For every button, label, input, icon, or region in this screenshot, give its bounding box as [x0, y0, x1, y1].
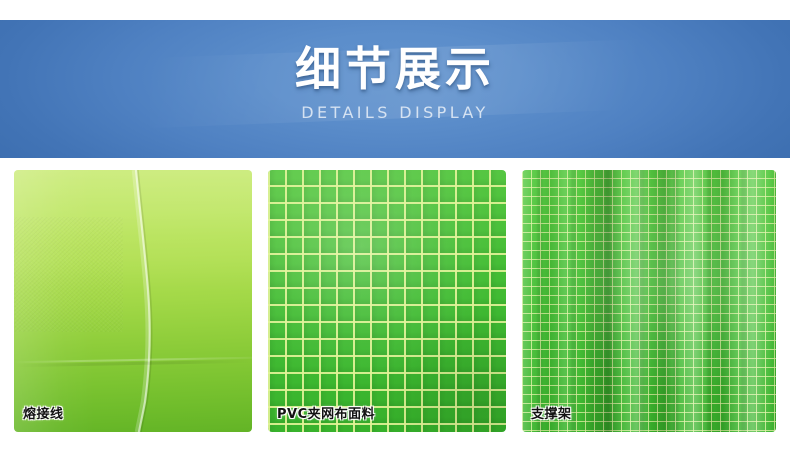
page-subtitle: DETAILS DISPLAY — [301, 103, 488, 122]
detail-panel-welding-line[interactable]: 熔接线 — [14, 170, 252, 432]
detail-panel-support-frame[interactable]: 支撑架 — [522, 170, 776, 432]
page-title: 细节展示 — [295, 44, 495, 94]
weld-seam-line — [14, 170, 252, 432]
header-banner: 细节展示 DETAILS DISPLAY — [0, 20, 790, 158]
frame-glow-overlay — [522, 170, 776, 432]
ribbed-support-frame-image — [522, 170, 776, 432]
details-display-page: 细节展示 DETAILS DISPLAY 熔接线 — [0, 0, 790, 464]
pvc-mesh-cloth-image — [268, 170, 506, 432]
welded-pvc-sheet-image — [14, 170, 252, 432]
detail-panel-row: 熔接线 PVC夹网布面料 支撑架 — [0, 170, 790, 432]
panel-caption-mesh-fabric: PVC夹网布面料 — [277, 406, 375, 423]
mesh-lighting-overlay — [268, 170, 506, 432]
banner-content: 细节展示 DETAILS DISPLAY — [0, 20, 790, 158]
panel-caption-welding-line: 熔接线 — [23, 406, 64, 423]
panel-caption-support-frame: 支撑架 — [531, 406, 572, 423]
detail-panel-mesh-fabric[interactable]: PVC夹网布面料 — [268, 170, 506, 432]
